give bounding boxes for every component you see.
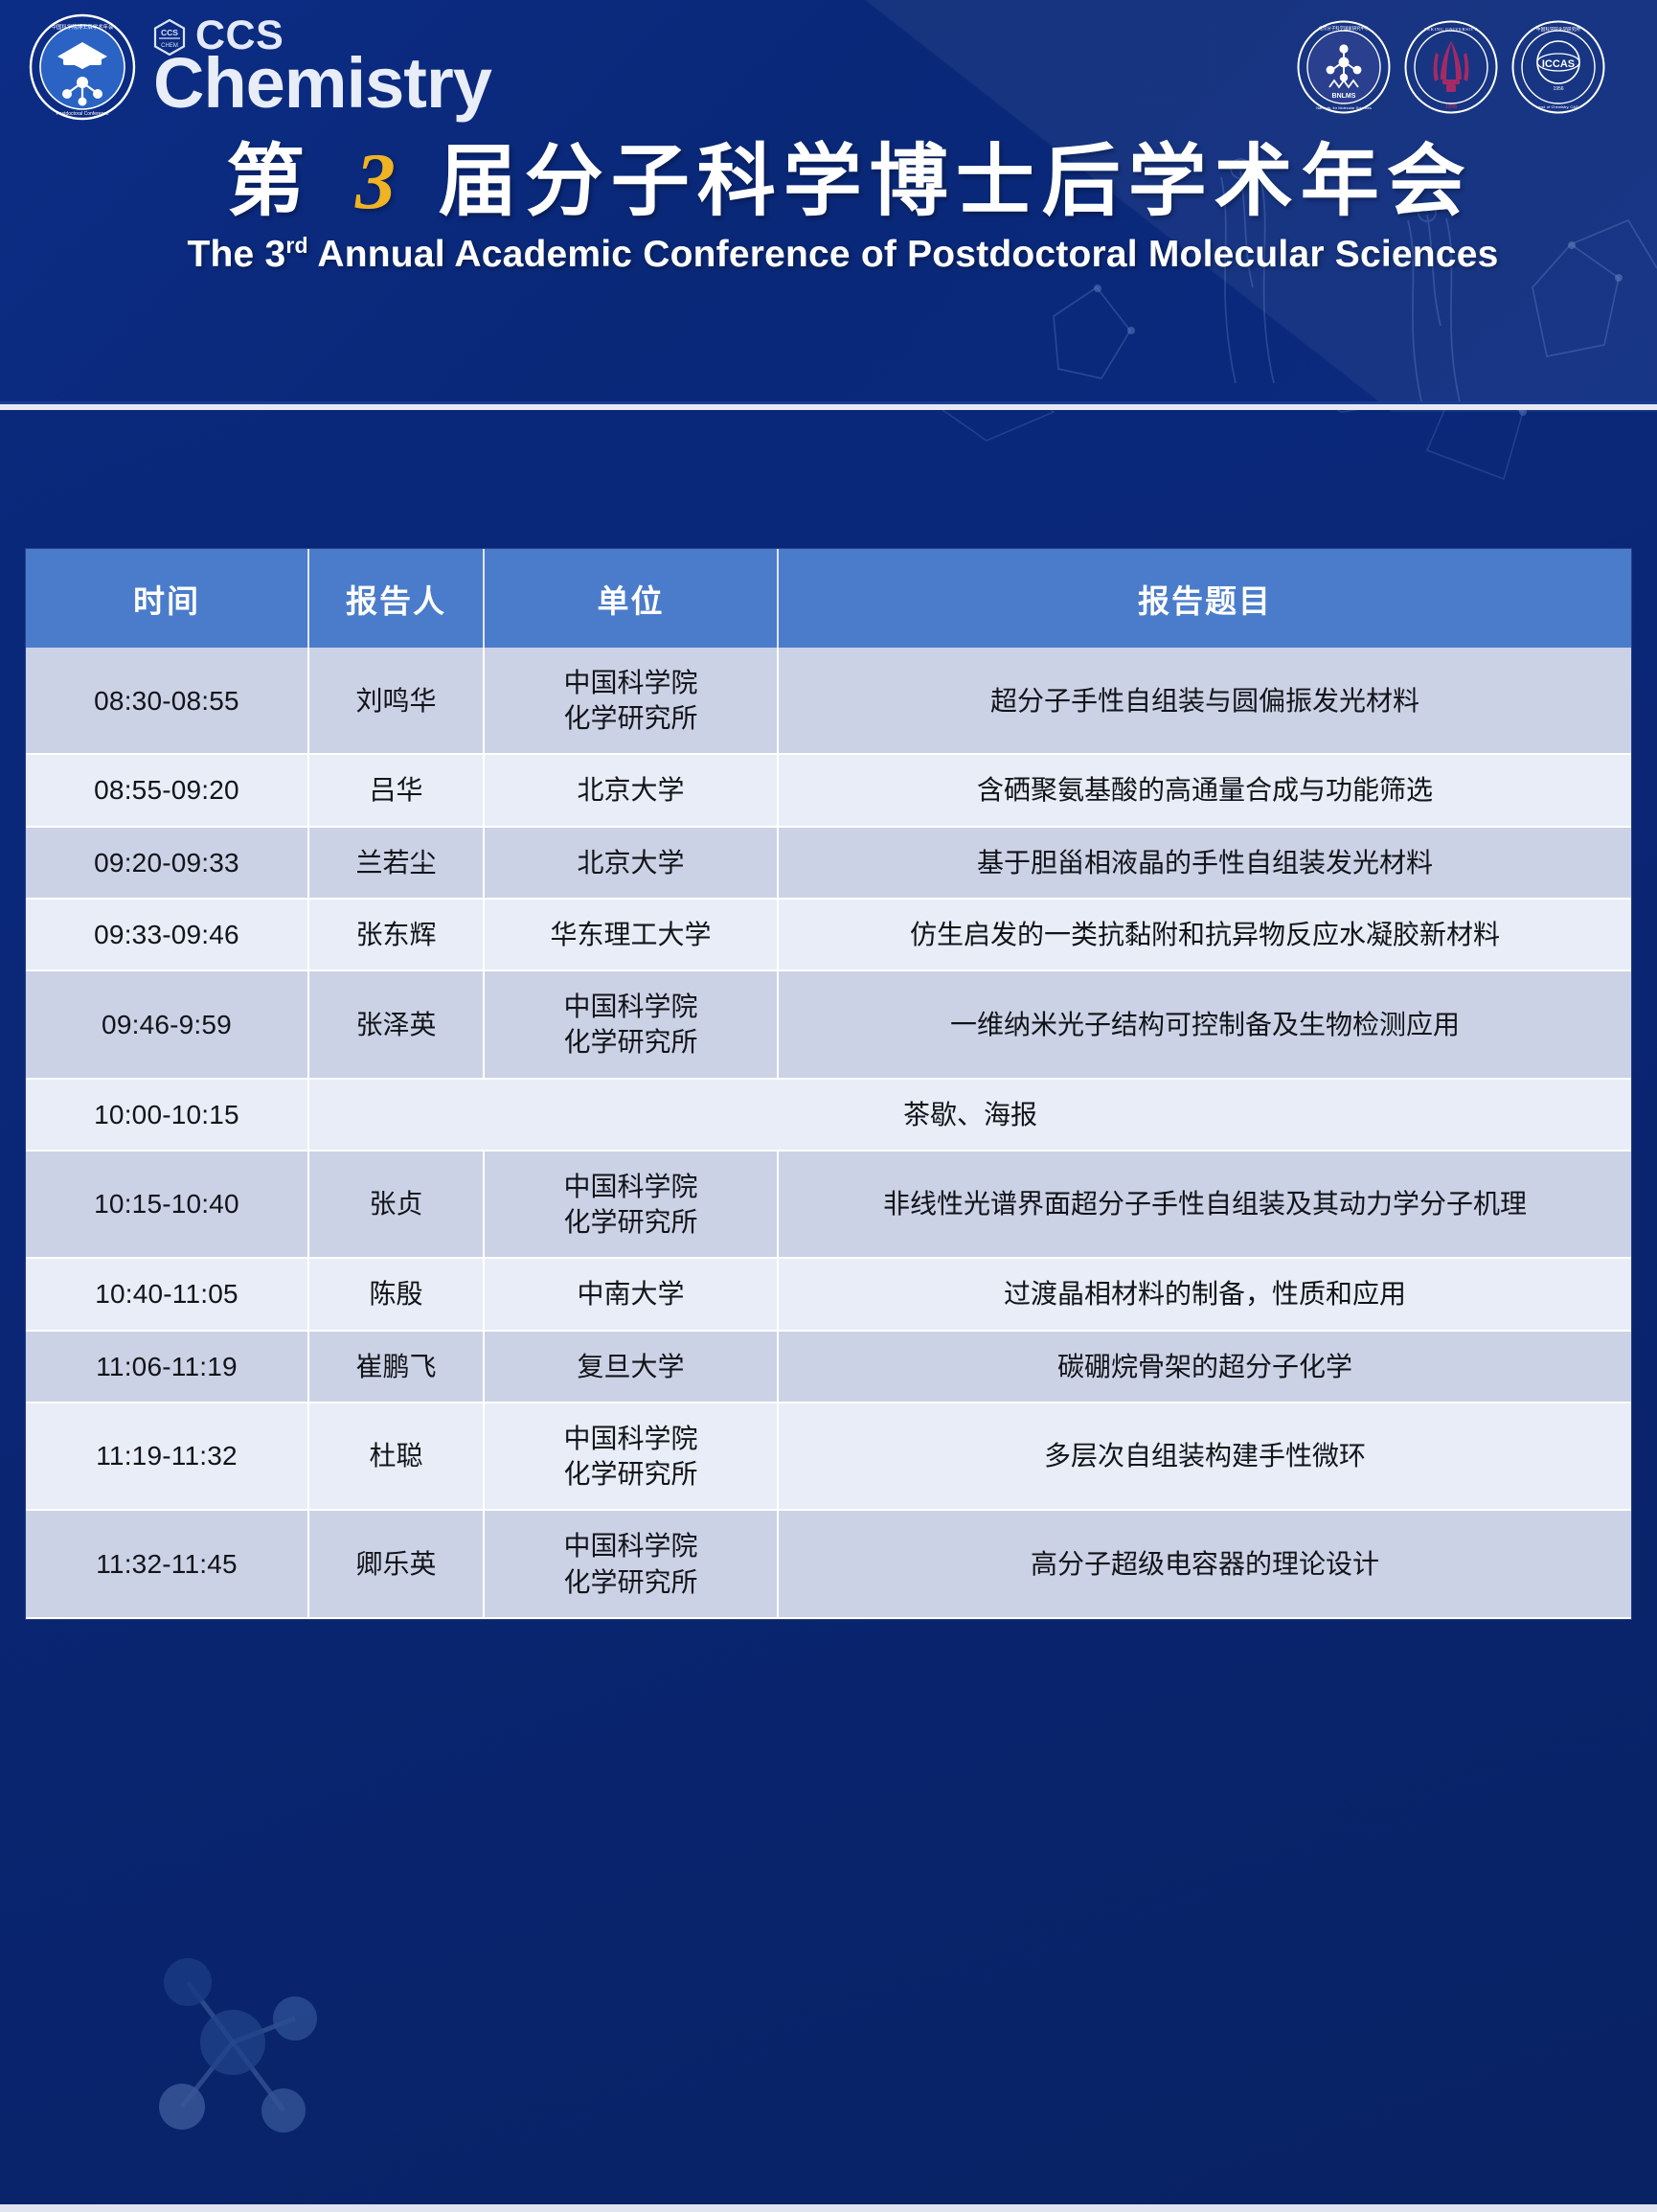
- title-edition-number: 3: [342, 137, 409, 226]
- table-row: 10:00-10:15茶歇、海报: [26, 1079, 1631, 1151]
- cell-title: 茶歇、海报: [308, 1079, 1631, 1151]
- ccs-hex-top-label: CCS: [161, 28, 178, 37]
- cell-org: 华东理工大学: [484, 899, 778, 970]
- table-row: 09:20-09:33兰若尘北京大学基于胆甾相液晶的手性自组装发光材料: [26, 827, 1631, 899]
- cell-time: 10:40-11:05: [26, 1258, 308, 1330]
- table-row: 10:40-11:05陈殷中南大学过渡晶相材料的制备，性质和应用: [26, 1258, 1631, 1330]
- table-row: 11:32-11:45卿乐英中国科学院 化学研究所高分子超级电容器的理论设计: [26, 1510, 1631, 1617]
- svg-text:北京分子科学国家研究中心: 北京分子科学国家研究中心: [1319, 25, 1370, 32]
- cell-speaker: 卿乐英: [308, 1510, 484, 1617]
- cell-org: 中国科学院 化学研究所: [484, 1402, 778, 1510]
- column-header-title: 报告题目: [778, 549, 1631, 648]
- column-header-org: 单位: [484, 549, 778, 648]
- cell-time: 09:20-09:33: [26, 827, 308, 899]
- cell-time: 10:00-10:15: [26, 1079, 308, 1151]
- cell-time: 11:06-11:19: [26, 1331, 308, 1402]
- schedule-table-area: 时间 报告人 单位 报告题目 08:30-08:55刘鸣华中国科学院 化学研究所…: [0, 410, 1657, 1619]
- cell-time: 11:19-11:32: [26, 1402, 308, 1510]
- bnlms-label: BNLMS: [1332, 93, 1356, 100]
- svg-text:中国科学院化学研究所: 中国科学院化学研究所: [1536, 26, 1580, 33]
- partner-seals-group: BNLMS 北京分子科学国家研究中心 Nat. Lab. for Molecul…: [1297, 20, 1605, 114]
- column-header-speaker: 报告人: [308, 549, 484, 648]
- title-cn-prefix: 第: [226, 138, 312, 225]
- svg-text:中国科学院博士后学术年会: 中国科学院博士后学术年会: [52, 23, 114, 31]
- cell-title: 碳硼烷骨架的超分子化学: [778, 1331, 1631, 1402]
- schedule-table: 时间 报告人 单位 报告题目 08:30-08:55刘鸣华中国科学院 化学研究所…: [26, 549, 1631, 1619]
- cell-title: 高分子超级电容器的理论设计: [778, 1510, 1631, 1617]
- iccas-year: 1956: [1553, 86, 1563, 92]
- table-row: 08:55-09:20吕华北京大学含硒聚氨基酸的高通量合成与功能筛选: [26, 754, 1631, 826]
- cell-org: 中南大学: [484, 1258, 778, 1330]
- title-en-ordinal: rd: [285, 233, 307, 258]
- title-cn-suffix: 届分子科学博士后学术年会: [439, 138, 1473, 225]
- cell-org: 中国科学院 化学研究所: [484, 970, 778, 1078]
- iccas-seal: ICCAS 中国科学院化学研究所 1956 Inst. of Chemistry…: [1511, 20, 1605, 114]
- cell-speaker: 张东辉: [308, 899, 484, 970]
- table-row: 09:33-09:46张东辉华东理工大学仿生启发的一类抗黏附和抗异物反应水凝胶新…: [26, 899, 1631, 970]
- title-block: 第 3 届分子科学博士后学术年会 The 3rd Annual Academic…: [0, 140, 1657, 276]
- table-row: 10:15-10:40张贞中国科学院 化学研究所非线性光谱界面超分子手性自组装及…: [26, 1151, 1631, 1258]
- table-row: 09:46-9:59张泽英中国科学院 化学研究所一维纳米光子结构可控制备及生物检…: [26, 970, 1631, 1078]
- ccs-chemistry-seal: 中国科学院博士后学术年会 Postdoctoral Conference: [29, 13, 136, 121]
- cell-title: 过渡晶相材料的制备，性质和应用: [778, 1258, 1631, 1330]
- svg-text:Nat. Lab. for Molecular Scienc: Nat. Lab. for Molecular Sciences: [1316, 105, 1372, 110]
- cell-title: 超分子手性自组装与圆偏振发光材料: [778, 648, 1631, 754]
- cell-time: 09:33-09:46: [26, 899, 308, 970]
- cell-time: 08:30-08:55: [26, 648, 308, 754]
- table-row: 11:19-11:32杜聪中国科学院 化学研究所多层次自组装构建手性微环: [26, 1402, 1631, 1510]
- cell-speaker: 张贞: [308, 1151, 484, 1258]
- cell-time: 10:15-10:40: [26, 1151, 308, 1258]
- column-header-time: 时间: [26, 549, 308, 648]
- cell-title: 含硒聚氨基酸的高通量合成与功能筛选: [778, 754, 1631, 826]
- cell-title: 仿生启发的一类抗黏附和抗异物反应水凝胶新材料: [778, 899, 1631, 970]
- cell-speaker: 崔鹏飞: [308, 1331, 484, 1402]
- table-row: 11:06-11:19崔鹏飞复旦大学碳硼烷骨架的超分子化学: [26, 1331, 1631, 1402]
- poster-page: 中国科学院博士后学术年会 Postdoctoral Conference CCS…: [0, 0, 1657, 2212]
- cell-org: 复旦大学: [484, 1331, 778, 1402]
- pku-year: 1898: [1445, 104, 1457, 110]
- cell-speaker: 兰若尘: [308, 827, 484, 899]
- cell-speaker: 杜聪: [308, 1402, 484, 1510]
- page-bottom-divider: [0, 2204, 1657, 2212]
- title-en-suffix: Annual Academic Conference of Postdoctor…: [308, 234, 1499, 275]
- cell-speaker: 张泽英: [308, 970, 484, 1078]
- cell-org: 北京大学: [484, 827, 778, 899]
- ccs-wordmark-chemistry: Chemistry: [153, 50, 491, 117]
- conference-title-en: The 3rd Annual Academic Conference of Po…: [0, 234, 1657, 276]
- cell-speaker: 刘鸣华: [308, 648, 484, 754]
- ccs-chemistry-wordmark: CCS CHEM CCS Chemistry: [153, 16, 491, 117]
- bottom-molecule-decoration: [113, 1923, 352, 2162]
- conference-banner: 中国科学院博士后学术年会 Postdoctoral Conference CCS…: [0, 0, 1657, 410]
- cell-time: 08:55-09:20: [26, 754, 308, 826]
- conference-title-cn: 第 3 届分子科学博士后学术年会: [0, 140, 1657, 224]
- cell-time: 09:46-9:59: [26, 970, 308, 1078]
- table-row: 08:30-08:55刘鸣华中国科学院 化学研究所超分子手性自组装与圆偏振发光材…: [26, 648, 1631, 754]
- cell-org: 北京大学: [484, 754, 778, 826]
- iccas-label: ICCAS: [1542, 58, 1575, 70]
- logo-strip: 中国科学院博士后学术年会 Postdoctoral Conference CCS…: [0, 0, 1657, 134]
- title-en-prefix: The 3: [188, 234, 286, 275]
- svg-text:Inst. of Chemistry, CAS: Inst. of Chemistry, CAS: [1538, 104, 1578, 109]
- cell-title: 多层次自组装构建手性微环: [778, 1402, 1631, 1510]
- cell-speaker: 陈殷: [308, 1258, 484, 1330]
- cell-time: 11:32-11:45: [26, 1510, 308, 1617]
- cell-title: 非线性光谱界面超分子手性自组装及其动力学分子机理: [778, 1151, 1631, 1258]
- bnlms-seal: BNLMS 北京分子科学国家研究中心 Nat. Lab. for Molecul…: [1297, 20, 1391, 114]
- cell-speaker: 吕华: [308, 754, 484, 826]
- cell-title: 一维纳米光子结构可控制备及生物检测应用: [778, 970, 1631, 1078]
- pku-label: PEKING UNIVERSITY: [1424, 27, 1478, 32]
- table-header-row: 时间 报告人 单位 报告题目: [26, 549, 1631, 648]
- cell-org: 中国科学院 化学研究所: [484, 1151, 778, 1258]
- peking-university-seal: PEKING UNIVERSITY 1898: [1404, 20, 1498, 114]
- cell-org: 中国科学院 化学研究所: [484, 648, 778, 754]
- cell-title: 基于胆甾相液晶的手性自组装发光材料: [778, 827, 1631, 899]
- schedule-table-body: 08:30-08:55刘鸣华中国科学院 化学研究所超分子手性自组装与圆偏振发光材…: [26, 648, 1631, 1618]
- svg-text:Postdoctoral Conference: Postdoctoral Conference: [56, 111, 108, 117]
- cell-org: 中国科学院 化学研究所: [484, 1510, 778, 1617]
